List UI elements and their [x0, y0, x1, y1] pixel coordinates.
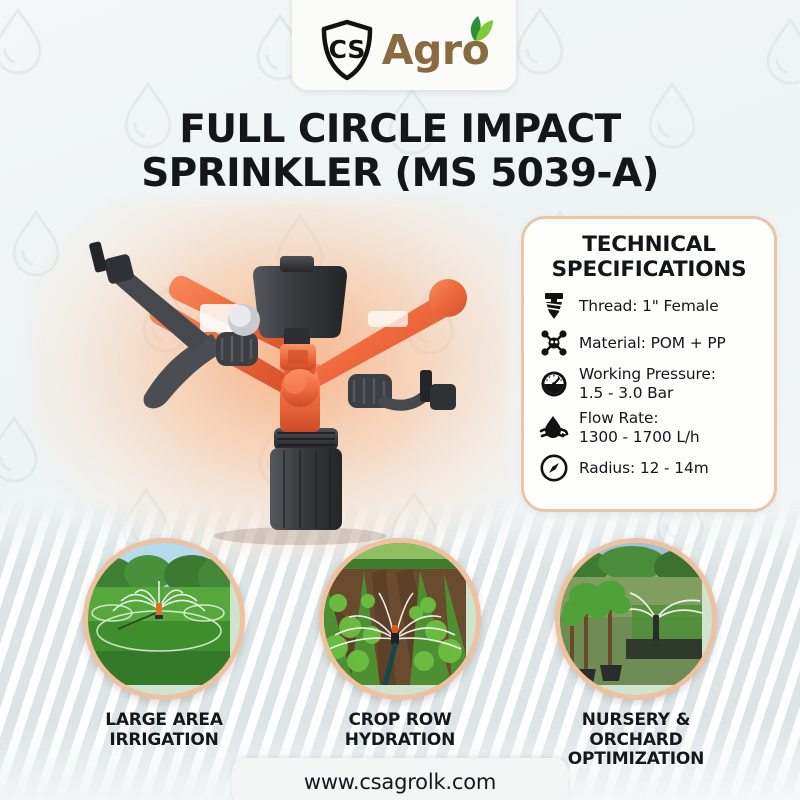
feature-2-label-line-1: CROP ROW [348, 710, 451, 730]
screw-bolt-icon [539, 291, 569, 321]
molecule-icon [539, 328, 569, 358]
spec-flow-line-2: 1300 - 1700 L/h [579, 428, 700, 446]
feature-label-nursery-orchard-optimization: NURSERY & ORCHARD OPTIMIZATION [546, 711, 726, 770]
spec-text-working-pressure: Working Pressure: 1.5 - 3.0 Bar [579, 365, 716, 402]
spec-pressure-line-2: 1.5 - 3.0 Bar [579, 384, 716, 402]
spec-text-radius: Radius: 12 - 14m [579, 459, 709, 477]
spec-card-title: TECHNICAL SPECIFICATIONS [536, 232, 762, 282]
technical-specifications-card: TECHNICAL SPECIFICATIONS Thread [521, 216, 777, 512]
spec-title-line-2: SPECIFICATIONS [536, 257, 762, 282]
logo-monogram-text: CS [328, 35, 365, 64]
title-line-2: SPRINKLER (MS 5039-A) [0, 152, 800, 196]
spec-thread-line-1: Thread: 1" Female [579, 297, 719, 315]
spec-list: Thread: 1" Female [536, 291, 762, 483]
spec-radius-line-1: Radius: 12 - 14m [579, 459, 709, 477]
footer-website-bar[interactable]: www.csagrolk.com [232, 758, 568, 800]
leaf-icon [460, 15, 494, 43]
feature-1-label-line-2: IRRIGATION [105, 731, 223, 751]
spec-material-line-1: Material: POM + PP [579, 334, 726, 352]
spec-text-flow-rate: Flow Rate: 1300 - 1700 L/h [579, 409, 700, 446]
feature-label-large-area-irrigation: LARGE AREA IRRIGATION [105, 711, 223, 750]
feature-1-label-line-1: LARGE AREA [105, 710, 223, 730]
spec-flow-line-1: Flow Rate: [579, 409, 659, 427]
feature-nursery-orchard-optimization[interactable]: NURSERY & ORCHARD OPTIMIZATION [546, 538, 726, 770]
spec-row-radius: Radius: 12 - 14m [539, 453, 762, 483]
title-line-1: FULL CIRCLE IMPACT [179, 107, 620, 152]
feature-crop-row-hydration[interactable]: CROP ROW HYDRATION [310, 538, 490, 770]
spec-title-line-1: TECHNICAL [582, 232, 715, 257]
compass-icon [539, 453, 569, 483]
spec-text-material: Material: POM + PP [579, 334, 726, 352]
feature-2-label-line-2: HYDRATION [345, 731, 455, 751]
shield-icon: CS [319, 19, 375, 81]
feature-large-area-irrigation[interactable]: LARGE AREA IRRIGATION [74, 538, 254, 770]
product-infographic-poster: CS Agro FULL CIRCLE IMPACT SPRINKLER (MS… [0, 0, 800, 800]
product-image [48, 206, 508, 546]
spec-row-flow-rate: Flow Rate: 1300 - 1700 L/h [539, 409, 762, 446]
website-url[interactable]: www.csagrolk.com [304, 770, 496, 794]
feature-list: LARGE AREA IRRIGATION [0, 538, 800, 770]
crop-row-sprinkler-photo [319, 538, 481, 700]
page-title: FULL CIRCLE IMPACT SPRINKLER (MS 5039-A) [0, 108, 800, 197]
feature-3-label-line-2: OPTIMIZATION [546, 750, 726, 770]
brand-logo: CS Agro [292, 0, 516, 90]
spec-pressure-line-1: Working Pressure: [579, 365, 716, 383]
spec-text-thread: Thread: 1" Female [579, 297, 719, 315]
feature-label-crop-row-hydration: CROP ROW HYDRATION [345, 711, 455, 750]
water-flow-icon [539, 413, 569, 443]
nursery-orchard-sprinkler-photo [555, 538, 717, 700]
lawn-sprinkler-photo [83, 538, 245, 700]
logo-wordmark: Agro [382, 30, 489, 71]
pressure-gauge-icon [539, 369, 569, 399]
spec-row-working-pressure: Working Pressure: 1.5 - 3.0 Bar [539, 365, 762, 402]
spec-row-thread: Thread: 1" Female [539, 291, 762, 321]
spec-row-material: Material: POM + PP [539, 328, 762, 358]
feature-3-label-line-1: NURSERY & ORCHARD [582, 710, 690, 750]
